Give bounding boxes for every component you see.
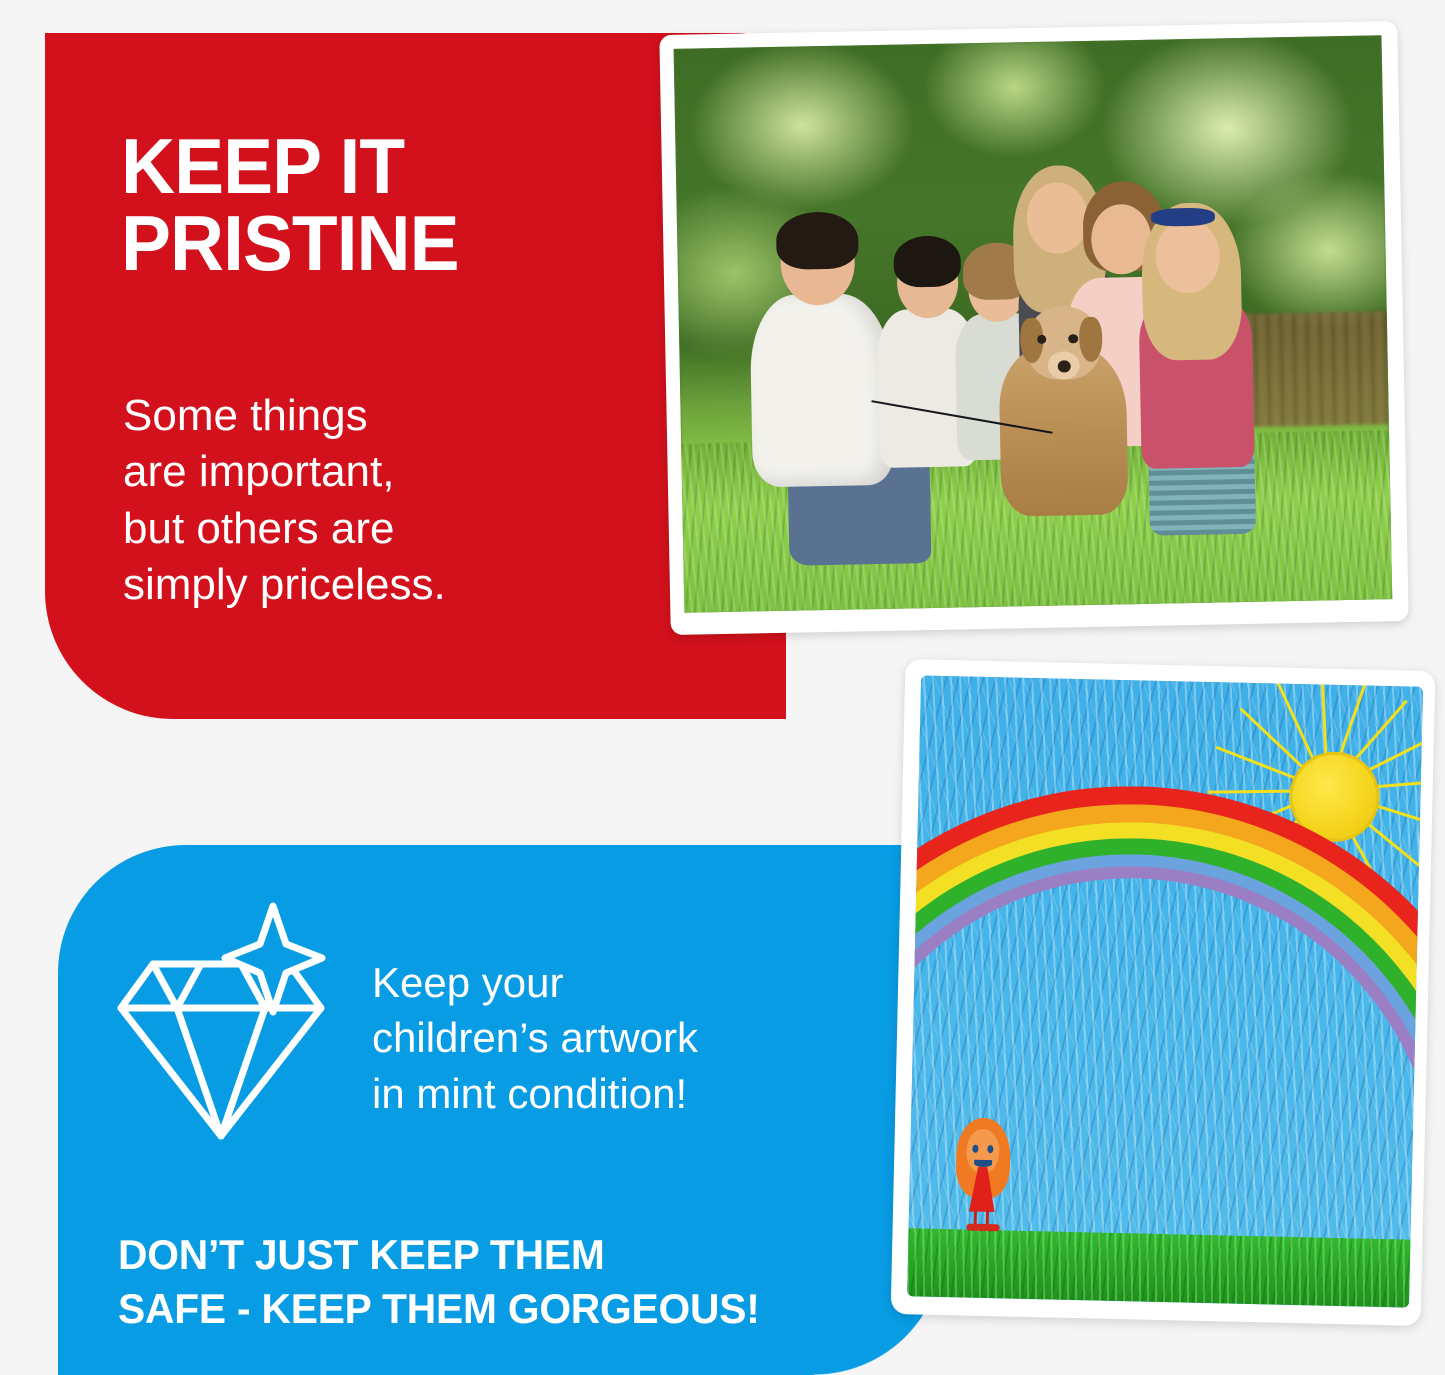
red-headline: KEEP IT PRISTINE: [121, 128, 697, 282]
child-artwork-card: [891, 659, 1436, 1326]
blue-body-copy: Keep your children’s artwork in mint con…: [372, 955, 872, 1121]
artwork-girl-figure: [944, 1117, 1022, 1230]
photo-dog-ear-right: [1079, 317, 1103, 363]
photo-dog-eye-right: [1069, 334, 1078, 343]
family-dog-photo-card: [659, 21, 1408, 635]
photo-fence: [1231, 312, 1389, 428]
photo-dog-nose: [1058, 360, 1071, 373]
diamond-sparkle-icon: [115, 898, 327, 1143]
blue-kicker-text: DON’T JUST KEEP THEM SAFE - KEEP THEM GO…: [118, 1228, 884, 1336]
artwork-grass: [907, 1228, 1410, 1308]
photo-girl2-head: [1027, 182, 1089, 254]
promo-banner: KEEP IT PRISTINE Some things are importa…: [0, 0, 1445, 1375]
photo-girl3-headband: [1151, 208, 1215, 227]
photo-boy-hair: [893, 235, 961, 287]
red-body-copy: Some things are important, but others ar…: [123, 388, 683, 613]
family-dog-photo-image: [674, 35, 1393, 612]
photo-girl3-head: [1155, 219, 1220, 294]
photo-man-hair: [776, 212, 858, 270]
photo-man-shirt: [749, 293, 894, 487]
child-artwork-image: [907, 675, 1423, 1307]
